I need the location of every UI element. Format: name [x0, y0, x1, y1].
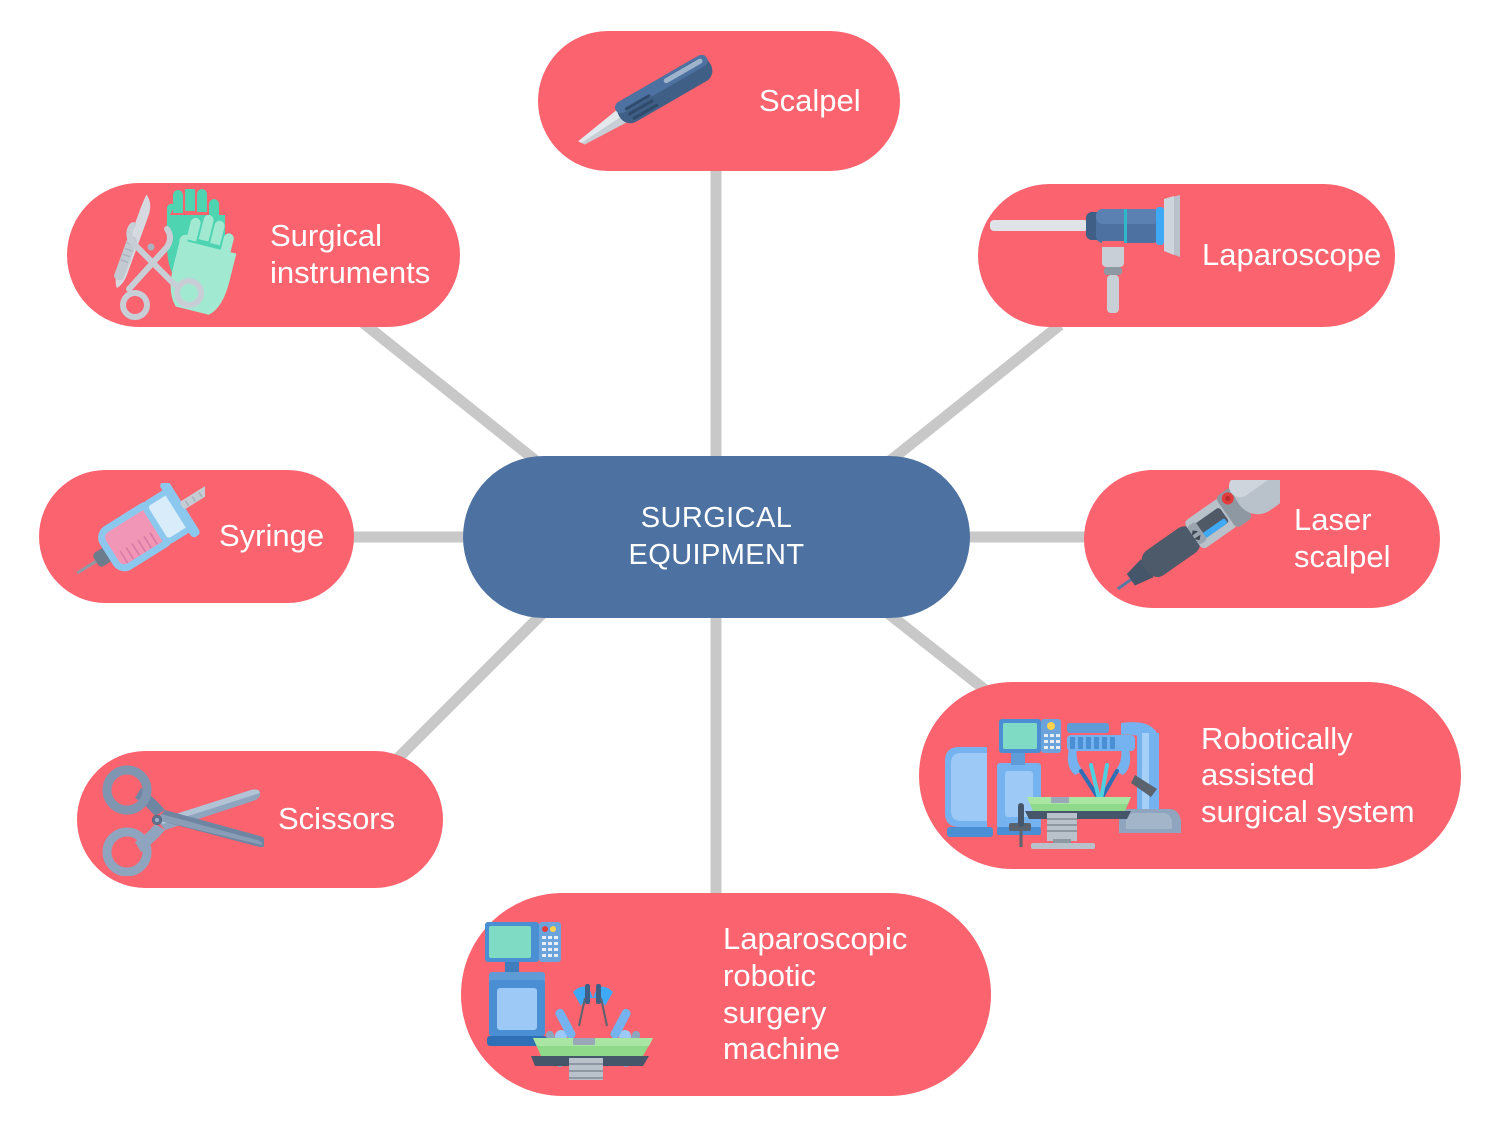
syringe-icon [65, 483, 205, 591]
branch-node-syringe[interactable]: Syringe [39, 470, 354, 603]
center-node-label-line2: EQUIPMENT [629, 537, 805, 574]
branch-node-scissors[interactable]: Scissors [77, 751, 443, 888]
branch-node-robotic-system[interactable]: Robotically assisted surgical system [919, 682, 1461, 869]
branch-node-laser-scalpel[interactable]: Laser scalpel [1084, 470, 1440, 608]
branch-label-laparoscopic-robot: Laparoscopic robotic surgery machine [723, 921, 907, 1067]
branch-label-instruments: Surgical instruments [270, 218, 430, 291]
branch-label-syringe: Syringe [219, 518, 324, 555]
laparoscopic-robot-icon [477, 910, 709, 1080]
mind-map-canvas: Scalpel [0, 0, 1500, 1129]
robotic-surgical-system-icon [939, 701, 1187, 851]
scalpel-icon [560, 45, 745, 157]
branch-node-laparoscopic-robot[interactable]: Laparoscopic robotic surgery machine [461, 893, 991, 1096]
branch-node-instruments[interactable]: Surgical instruments [67, 183, 460, 327]
branch-label-laparoscope: Laparoscope [1202, 237, 1381, 274]
edge-center-scissors [396, 596, 560, 760]
branch-node-scalpel[interactable]: Scalpel [538, 31, 900, 171]
center-node-label: SURGICAL EQUIPMENT [629, 500, 805, 574]
laparoscope-icon [988, 193, 1188, 318]
branch-node-laparoscope[interactable]: Laparoscope [978, 184, 1395, 327]
branch-label-laser-scalpel: Laser scalpel [1294, 502, 1391, 575]
surgical-instruments-icon [81, 189, 256, 321]
branch-label-robotic-system: Robotically assisted surgical system [1201, 721, 1415, 831]
center-node-surgical-equipment[interactable]: SURGICAL EQUIPMENT [463, 456, 970, 618]
center-node-label-line1: SURGICAL [629, 500, 805, 537]
branch-label-scalpel: Scalpel [759, 83, 861, 120]
branch-label-scissors: Scissors [278, 801, 395, 838]
laser-scalpel-icon [1098, 480, 1280, 598]
scissors-icon [99, 764, 264, 876]
